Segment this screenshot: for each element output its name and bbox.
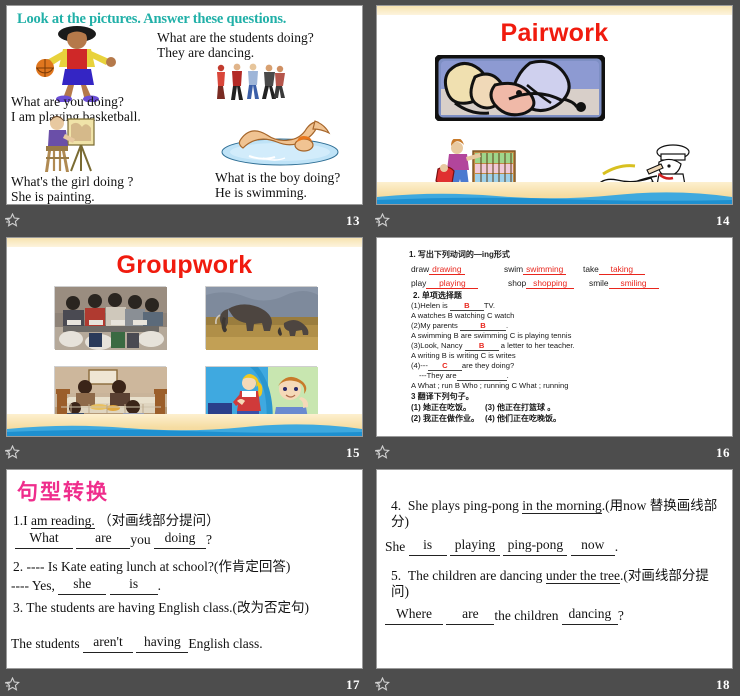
q2-number: 2. <box>13 559 23 574</box>
slide-13[interactable]: Look at the pictures. Answer these quest… <box>6 5 363 205</box>
mcq-3-stem-before: (3)Look, Nancy <box>411 341 463 350</box>
mcq-2-stem-before: (2)My parents <box>411 321 458 330</box>
q4-prompt-underlined: in the morning <box>522 498 602 514</box>
students-reading-photo <box>54 286 166 349</box>
q5-prompt-pre: The children are dancing <box>408 568 546 583</box>
q5-blank-3: dancing <box>568 606 611 621</box>
q1-answer: What areyou doing? <box>15 532 212 549</box>
q5-answer: Where arethe children dancing? <box>385 608 624 625</box>
q4-blank-4: now <box>581 537 604 552</box>
q2-blank-2: is <box>129 576 138 591</box>
beach-water-wave <box>377 191 732 204</box>
star-bookmark-icon <box>5 677 20 691</box>
answer-taking: taking <box>599 264 645 275</box>
mcq-3-stem: (3)Look, Nancy B a letter to her teacher… <box>411 341 575 351</box>
q1-blank-2: are <box>95 530 111 545</box>
q1-prompt-underlined: am reading. <box>31 513 95 529</box>
verb-draw: draw <box>411 264 429 274</box>
beach-water-wave <box>7 423 362 436</box>
caption-students-dancing: What are the students doing? They are da… <box>157 30 314 60</box>
slide-15-footer: 15 <box>0 438 370 464</box>
q5-blank-1: Where <box>396 606 432 621</box>
mcq-2-answer: B <box>460 321 506 331</box>
caption-boy-swimming: What is the boy doing? He is swimming. <box>215 170 340 200</box>
q1-prompt: 1.I am reading. （对画线部分提问） <box>13 513 220 529</box>
answer-drawing: drawing <box>429 264 464 275</box>
star-bookmark-icon <box>375 445 390 459</box>
q1-blank-3: doing <box>165 530 196 545</box>
mcq-2-options: A swimming B are swimming C is playing t… <box>411 331 571 340</box>
q1-prompt-post: （对画线部分提问） <box>95 513 220 528</box>
q5-qmark: ? <box>618 608 624 623</box>
answer-shopping: shopping <box>526 278 574 289</box>
elephants-photo <box>205 286 317 349</box>
q3-prompt: 3. The students are having English class… <box>13 600 358 616</box>
q3-lead: The students <box>11 636 80 651</box>
verb-item-take: taketaking <box>583 264 645 275</box>
slide-14-footer: 14 <box>370 206 740 232</box>
slide-number-14: 14 <box>716 213 730 229</box>
q2-lead: ---- Yes, <box>11 578 55 593</box>
mcq-1-answer: B <box>450 301 484 311</box>
q5-prompt: 5. The children are dancing under the tr… <box>391 568 725 600</box>
q4-blank-3: ping-pong <box>508 537 564 552</box>
slide-cell-13[interactable]: Look at the pictures. Answer these quest… <box>0 0 370 232</box>
star-bookmark-icon <box>375 677 390 691</box>
exercise3-heading: 3 翻译下列句子。 <box>411 392 474 401</box>
answer-playing: playing <box>426 278 478 289</box>
slide-number-18: 18 <box>716 677 730 693</box>
slide-18[interactable]: 4. She plays ping-pong in the morning.(用… <box>376 469 733 669</box>
exercise2-heading: 2. 单项选择题 <box>413 291 462 300</box>
answer-swimming: swimming <box>523 264 566 275</box>
verb-item-draw: drawdrawing <box>411 264 465 274</box>
slide-cell-16[interactable]: 1. 写出下列动词的—ing形式 drawdrawing swimswimmin… <box>370 232 740 464</box>
slide-15-title: Groupwork <box>7 251 362 280</box>
mcq-4-options: A What ; run B Who ; running C What ; ru… <box>411 381 568 390</box>
q4-number: 4. <box>391 498 401 513</box>
slide-cell-17[interactable]: 句型转换 1.I am reading. （对画线部分提问） What arey… <box>0 464 370 696</box>
slide-number-17: 17 <box>346 677 360 693</box>
answer-smiling: smiling <box>609 278 659 289</box>
translate-item-3: (3) 他正在打篮球 。 <box>485 403 555 412</box>
mcq-4-stem: (4)---Care they doing? <box>411 361 514 371</box>
q1-qmark: ? <box>206 532 212 547</box>
q1-blank-1: What <box>29 530 58 545</box>
mcq-4-stem-after: are they doing? <box>462 361 514 370</box>
translate-item-4: (4) 他们正在吃晚饭。 <box>485 414 561 423</box>
q3-prompt-pre: The students are having English class.(改… <box>23 600 309 615</box>
mcq-4-stem-line2-text: ---They are <box>419 371 457 380</box>
girl-painting-clipart <box>35 111 105 173</box>
verb-shop: shop <box>508 278 526 288</box>
translate-item-1: (1) 她正在吃饭。 <box>411 403 471 412</box>
mcq-4-stem-before: (4)--- <box>411 361 428 370</box>
q2-prompt-pre: ---- Is Kate eating lunch at school?(作肯定… <box>23 559 290 574</box>
slide-17-footer: 17 <box>0 670 370 696</box>
verb-item-swim: swimswimming <box>504 264 566 274</box>
mcq-2-stem-after: . <box>506 321 508 330</box>
swimming-boy-clipart <box>219 118 341 168</box>
slide-number-15: 15 <box>346 445 360 461</box>
q5-word-children: the children <box>494 608 558 623</box>
q4-period: . <box>615 539 618 554</box>
mcq-2-stem: (2)My parents B. <box>411 321 508 331</box>
slide-14[interactable]: Pairwork <box>376 5 733 205</box>
q2-blank-1: she <box>73 576 91 591</box>
verb-swim: swim <box>504 264 523 274</box>
caption-girl-painting: What's the girl doing ? She is painting. <box>11 174 133 204</box>
mcq-3-answer: B <box>465 341 499 351</box>
mcq-3-options: A writing B is writing C is writes <box>411 351 516 360</box>
slide-16-footer: 16 <box>370 438 740 464</box>
exercise1-heading: 1. 写出下列动词的—ing形式 <box>409 250 510 259</box>
star-bookmark-icon <box>5 213 20 227</box>
star-bookmark-icon <box>5 445 20 459</box>
mcq-1-stem-after: TV. <box>484 301 495 310</box>
q4-prompt: 4. She plays ping-pong in the morning.(用… <box>391 498 725 530</box>
q1-prompt-pre: I <box>23 513 31 528</box>
translate-item-2: (2) 我正在做作业。 <box>411 414 479 423</box>
mcq-4-stem-line2: ---They are . <box>419 371 509 381</box>
verb-smile: smile <box>589 278 609 288</box>
slide-15[interactable]: Groupwork <box>6 237 363 437</box>
beach-top-band <box>7 238 362 247</box>
slide-14-title: Pairwork <box>377 19 732 48</box>
mcq-1-stem: (1)Helen is BTV. <box>411 301 495 311</box>
q3-answer: The students aren't havingEnglish class. <box>11 636 263 653</box>
verb-item-shop: shopshopping <box>508 278 574 289</box>
q5-blank-2: are <box>462 606 478 621</box>
slide-18-footer: 18 <box>370 670 740 696</box>
slide-number-13: 13 <box>346 213 360 229</box>
q4-blank-1: is <box>423 537 432 552</box>
slide-number-16: 16 <box>716 445 730 461</box>
mcq-1-options: A watches B watching C watch <box>411 311 514 320</box>
violin-player-clipart <box>435 55 605 121</box>
mcq-4-answer: C <box>428 361 462 371</box>
slide-16[interactable]: 1. 写出下列动词的—ing形式 drawdrawing swimswimmin… <box>376 237 733 437</box>
basketball-boy-clipart <box>29 24 125 102</box>
q2-period: . <box>158 578 161 593</box>
slide-17-title: 句型转换 <box>17 476 109 506</box>
star-bookmark-icon <box>375 213 390 227</box>
q4-blank-2: playing <box>455 537 496 552</box>
q3-number: 3. <box>13 600 23 615</box>
q5-number: 5. <box>391 568 401 583</box>
verb-take: take <box>583 264 599 274</box>
verb-play: play <box>411 278 426 288</box>
q3-blank-1: aren't <box>93 634 122 649</box>
q1-word-you: you <box>130 532 150 547</box>
dancing-students-clipart <box>212 63 288 101</box>
slide-13-footer: 13 <box>0 206 370 232</box>
q3-tail: English class. <box>188 636 262 651</box>
q2-answer: ---- Yes, she is. <box>11 578 161 595</box>
verb-item-smile: smilesmiling <box>589 278 659 289</box>
q4-answer: She is playing ping-pong now. <box>385 539 618 556</box>
slide-cell-14[interactable]: Pairwork <box>370 0 740 232</box>
verb-item-play: playplaying <box>411 278 478 289</box>
q1-number: 1. <box>13 513 23 528</box>
q4-prompt-pre: She plays ping-pong <box>408 498 522 513</box>
q4-lead: She <box>385 539 405 554</box>
slide-thumbnail-grid: Look at the pictures. Answer these quest… <box>0 0 740 696</box>
mcq-1-stem-before: (1)Helen is <box>411 301 448 310</box>
mcq-3-stem-after: a letter to her teacher. <box>501 341 575 350</box>
q5-prompt-underlined: under the tree <box>546 568 620 584</box>
beach-top-band <box>377 6 732 15</box>
slide-17[interactable]: 句型转换 1.I am reading. （对画线部分提问） What arey… <box>6 469 363 669</box>
q3-blank-2: having <box>144 634 181 649</box>
slide-cell-15[interactable]: Groupwork <box>0 232 370 464</box>
q2-prompt: 2. ---- Is Kate eating lunch at school?(… <box>13 559 290 575</box>
slide-cell-18[interactable]: 4. She plays ping-pong in the morning.(用… <box>370 464 740 696</box>
